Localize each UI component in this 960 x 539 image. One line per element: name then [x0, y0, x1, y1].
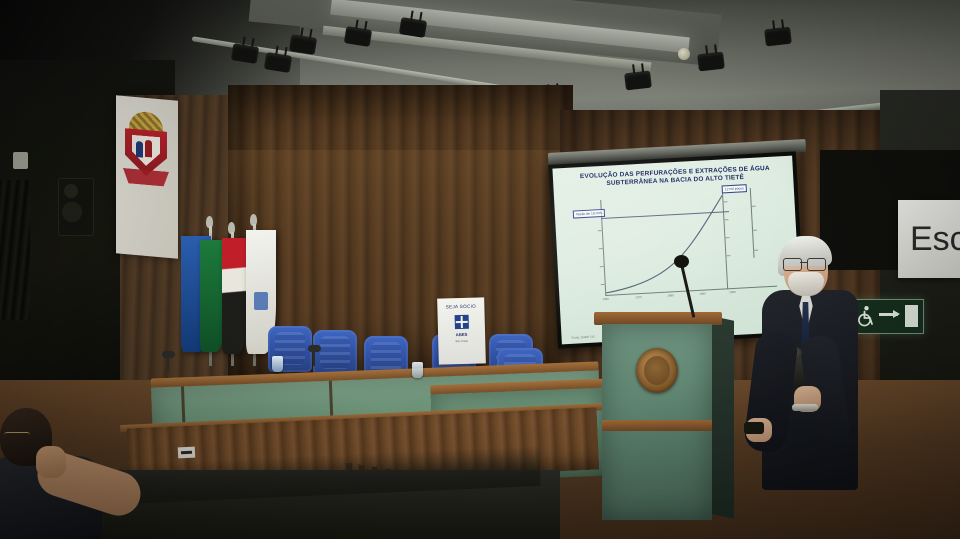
table-microphone[interactable] — [162, 351, 175, 358]
speaker-tweeter-icon — [64, 184, 78, 198]
wall-speaker — [58, 178, 94, 236]
podium — [600, 312, 718, 520]
wall-sign-esc: Esc — [898, 200, 960, 278]
slide-footnote: Fonte: DAEE / IG — [571, 335, 594, 340]
institutional-flag-emblem — [254, 292, 268, 310]
ceiling-bulb-icon — [678, 48, 690, 60]
sao-paulo-flag — [222, 238, 248, 354]
speaker-woofer-icon — [62, 202, 82, 222]
audience-glasses-icon — [4, 432, 30, 441]
audience-hand — [36, 446, 66, 478]
chart-annotation-right: 12 mil poços — [722, 184, 747, 193]
chart-xtick-label: 1970 — [635, 295, 641, 299]
stage-label-plate — [178, 447, 195, 459]
spotlight-icon — [624, 71, 652, 91]
crest-figure-right — [145, 140, 152, 158]
spotlight-icon — [697, 52, 725, 72]
presentation-remote[interactable] — [744, 422, 764, 434]
podium-emblem-icon — [636, 348, 678, 393]
crest-ribbon — [123, 168, 169, 187]
wristwatch — [792, 404, 818, 411]
emergency-light-icon — [13, 152, 28, 169]
abes-sign-line-1: SEJA SÓCIO — [437, 303, 484, 309]
glasses-icon — [783, 258, 829, 269]
accessible-exit-sign — [849, 299, 924, 334]
stage-curtain — [0, 180, 30, 320]
right-arrow-icon — [879, 313, 898, 316]
podium-microphone[interactable] — [674, 255, 689, 268]
audience-member-foreground — [0, 398, 142, 539]
chart-xtick-label: 1990 — [699, 292, 705, 296]
door-icon — [905, 305, 918, 327]
auditorium-photo: EVOLUÇÃO DAS PERFURAÇÕES E EXTRAÇÕES DE … — [0, 0, 960, 539]
wall-sign-text: Esc — [910, 222, 960, 256]
abes-sign-line-3: São Paulo — [438, 338, 485, 343]
chart-xtick-label: 1960 — [602, 297, 608, 301]
water-glass[interactable] — [412, 362, 423, 378]
abes-sign-line-2: ABES — [438, 331, 485, 337]
microphone-stand — [313, 350, 315, 366]
abes-logo-icon — [455, 315, 469, 329]
coat-of-arms-icon — [123, 110, 169, 192]
chart-xtick-label: 2000 — [729, 290, 735, 294]
podium-wood-band — [602, 420, 712, 431]
abes-membership-sign: SEJA SÓCIO ABES São Paulo — [437, 297, 486, 364]
crest-figure-left — [136, 141, 143, 158]
wood-panel-highlight — [228, 150, 573, 270]
water-glass[interactable] — [272, 356, 283, 372]
heraldic-crest-banner — [116, 95, 178, 258]
chart-xtick-label: 1980 — [667, 293, 673, 297]
table-microphone[interactable] — [308, 345, 321, 352]
spotlight-icon — [764, 27, 792, 47]
microphone-stand — [167, 356, 169, 370]
speaker-person — [742, 236, 860, 520]
